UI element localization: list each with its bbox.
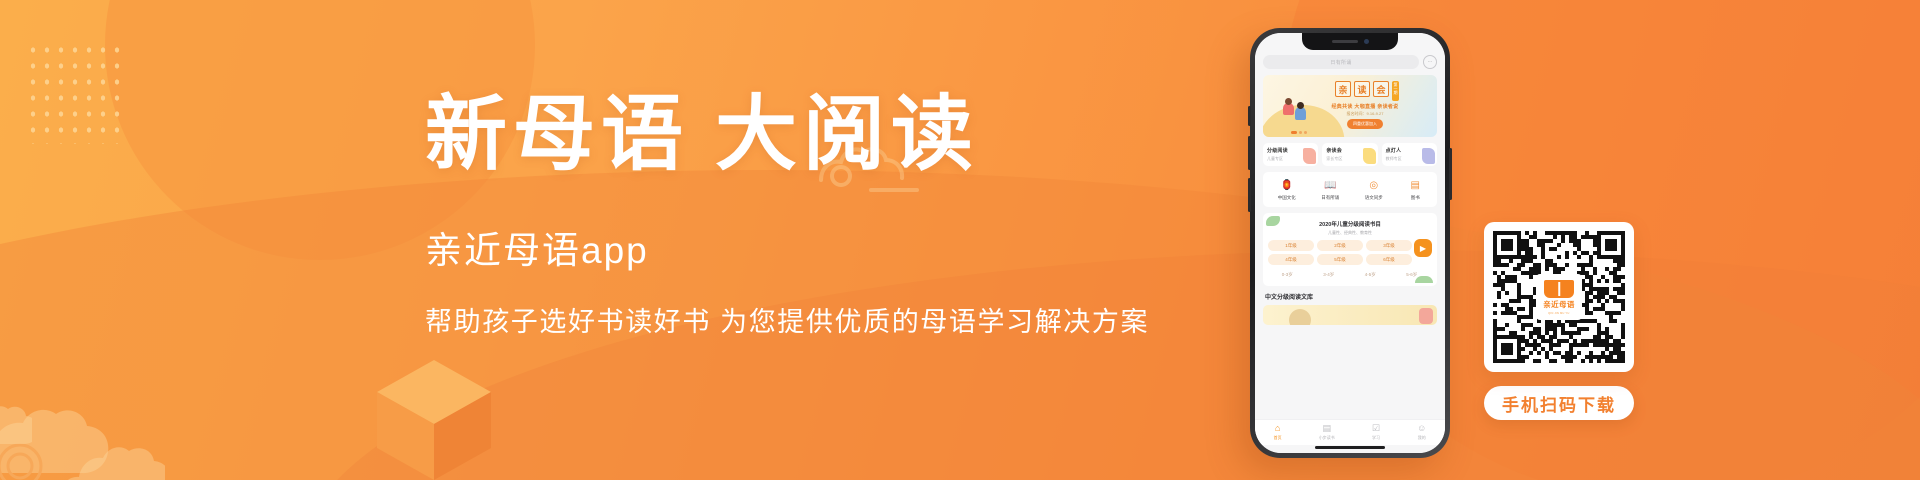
phone-mute-switch	[1248, 106, 1251, 126]
qr-logo-name: 亲近母语	[1543, 299, 1575, 310]
quick-icon-daily-recite[interactable]: 📖 日有所诵	[1321, 178, 1339, 201]
home-indicator	[1315, 446, 1385, 449]
hero-child-illustration	[1283, 103, 1294, 115]
hero-child-illustration	[1295, 107, 1306, 120]
circle-arrow-icon: ◎	[1367, 178, 1381, 192]
cloud-icon	[0, 398, 32, 458]
app-hero-banner[interactable]: 亲 读 会 第一期 经典共读 大咖直播 亲读者说 报名时间：9.16-9.27 …	[1263, 75, 1437, 137]
grade-pill-group: 1年级 2年级 3年级 4年级 5年级 6年级	[1268, 240, 1432, 265]
library-card[interactable]	[1263, 305, 1437, 325]
tab-label: 我的	[1418, 435, 1426, 441]
hero-title-char: 会	[1373, 81, 1389, 97]
decor-cube	[375, 358, 493, 480]
hero-title-char: 亲	[1335, 81, 1351, 97]
hero-title-char: 读	[1354, 81, 1370, 97]
quick-icon-syllabus-sync[interactable]: ◎ 语文同步	[1365, 178, 1383, 201]
qr-center-logo: 亲近母语 QIN JIN MU YU	[1536, 274, 1582, 320]
quick-icon-label: 中国文化	[1278, 195, 1296, 201]
video-play-icon[interactable]: ▶	[1414, 239, 1432, 257]
library-section-title: 中文分级阅读文库	[1265, 292, 1435, 301]
cloud-icon	[0, 394, 132, 480]
quick-icon-chinese-culture[interactable]: 🏮 中国文化	[1278, 178, 1296, 201]
promo-banner: 新母语大阅读 亲近母语app 帮助孩子选好书读好书 为您提供优质的母语学习解决方…	[0, 0, 1920, 480]
app-screen: 日有所诵 ··· 亲 读 会 第一期 经典共读 大咖直播 亲读者说 报名时	[1255, 33, 1445, 453]
app-search-row: 日有所诵 ···	[1263, 55, 1437, 69]
bookmark-icon	[1363, 148, 1376, 164]
hero-title-boxes: 亲 读 会 第一期	[1335, 81, 1399, 101]
tab-stepwise-reading[interactable]: ▤ 小步读书	[1319, 424, 1335, 441]
phone-volume-up-button	[1248, 136, 1251, 170]
library-card-shape	[1289, 309, 1311, 325]
grade-pill[interactable]: 2年级	[1317, 240, 1363, 251]
library-card-shape	[1419, 308, 1433, 324]
lantern-icon: 🏮	[1280, 178, 1294, 192]
quick-icon-books[interactable]: ▤ 图书	[1408, 178, 1422, 201]
qr-download-block: 亲近母语 QIN JIN MU YU 手机扫码下载	[1484, 222, 1634, 420]
cloud-icon	[60, 436, 165, 480]
grade-pill[interactable]: 4年级	[1268, 254, 1314, 265]
front-camera-icon	[1364, 39, 1369, 44]
search-input[interactable]: 日有所诵	[1263, 55, 1419, 69]
hero-cta-button[interactable]: 四重优惠加入	[1347, 119, 1383, 129]
tab-label: 小步读书	[1319, 435, 1335, 441]
phone-notch	[1302, 33, 1398, 50]
checklist-icon: ☑	[1372, 424, 1380, 433]
qr-logo-en: QIN JIN MU YU	[1548, 311, 1569, 315]
hero-vertical-tag: 第一期	[1392, 81, 1399, 101]
grade-pill[interactable]: 6年级	[1366, 254, 1412, 265]
hero-subtitle: 经典共读 大咖直播 亲读者说	[1332, 103, 1399, 110]
page-title: 新母语大阅读	[425, 92, 1285, 178]
home-icon: ⌂	[1275, 424, 1280, 433]
leaf-icon	[1415, 276, 1433, 283]
age-pill-group: 0-3岁 3-4岁 4-5岁 5-6岁	[1268, 269, 1432, 280]
qr-card: 亲近母语 QIN JIN MU YU	[1484, 222, 1634, 372]
bookmark-icon	[1422, 148, 1435, 164]
bookmark-icon	[1303, 148, 1316, 164]
banner-tagline: 帮助孩子选好书读好书 为您提供优质的母语学习解决方案	[425, 300, 1285, 339]
hero-carousel-dots[interactable]	[1291, 131, 1307, 134]
age-pill[interactable]: 0-3岁	[1268, 269, 1307, 280]
phone-volume-down-button	[1248, 178, 1251, 212]
entry-card-teacher[interactable]: 点灯人 教师专区	[1382, 143, 1437, 166]
headline-part-1: 新母语	[425, 89, 689, 180]
decor-dot-grid	[26, 42, 122, 144]
age-pill[interactable]: 4-5岁	[1351, 269, 1390, 280]
open-book-icon	[1544, 280, 1574, 298]
tab-home[interactable]: ⌂ 首页	[1274, 424, 1282, 441]
booklist-subtitle: 儿童性、经典性、教育性	[1268, 230, 1432, 236]
grade-pill[interactable]: 3年级	[1366, 240, 1412, 251]
phone-screen-frame: 日有所诵 ··· 亲 读 会 第一期 经典共读 大咖直播 亲读者说 报名时	[1255, 33, 1445, 453]
grade-pill[interactable]: 1年级	[1268, 240, 1314, 251]
phone-mockup: 日有所诵 ··· 亲 读 会 第一期 经典共读 大咖直播 亲读者说 报名时	[1250, 28, 1450, 458]
entry-card-graded-reading[interactable]: 分级阅读 儿童专区	[1263, 143, 1318, 166]
earpiece-speaker	[1332, 40, 1358, 43]
tab-study[interactable]: ☑ 学习	[1372, 424, 1380, 441]
download-button[interactable]: 手机扫码下载	[1484, 386, 1634, 420]
phone-power-button	[1449, 148, 1452, 200]
hero-date: 报名时间：9.16-9.27	[1347, 111, 1384, 117]
quick-icon-label: 图书	[1411, 195, 1420, 201]
list-icon: ▤	[1408, 178, 1422, 192]
app-tab-bar: ⌂ 首页 ▤ 小步读书 ☑ 学习 ☺ 我的	[1255, 419, 1445, 445]
tab-label: 首页	[1274, 435, 1282, 441]
user-icon: ☺	[1417, 424, 1426, 433]
entry-card-parent-club[interactable]: 亲读会 家长专区	[1322, 143, 1377, 166]
age-pill[interactable]: 3-4岁	[1310, 269, 1349, 280]
app-quick-icons: 🏮 中国文化 📖 日有所诵 ◎ 语文同步 ▤ 图书	[1263, 172, 1437, 207]
quick-icon-label: 语文同步	[1365, 195, 1383, 201]
banner-copy: 新母语大阅读 亲近母语app 帮助孩子选好书读好书 为您提供优质的母语学习解决方…	[425, 92, 1285, 339]
booklist-title: 2020年儿童分级阅读书目	[1268, 220, 1432, 228]
grade-pill[interactable]: 5年级	[1317, 254, 1363, 265]
qr-code-image: 亲近母语 QIN JIN MU YU	[1493, 231, 1625, 363]
tab-label: 学习	[1372, 435, 1380, 441]
quick-icon-label: 日有所诵	[1321, 195, 1339, 201]
book-list-icon: ▤	[1322, 424, 1331, 433]
app-entry-cards: 分级阅读 儿童专区 亲读会 家长专区 点灯人 教师专区	[1263, 143, 1437, 166]
app-name-subtitle: 亲近母语app	[425, 220, 1285, 274]
tab-mine[interactable]: ☺ 我的	[1417, 424, 1426, 441]
headline-part-2: 大阅读	[715, 89, 979, 180]
app-booklist-card: 2020年儿童分级阅读书目 儿童性、经典性、教育性 1年级 2年级 3年级 4年…	[1263, 213, 1437, 286]
message-icon[interactable]: ···	[1423, 55, 1437, 69]
book-icon: 📖	[1323, 178, 1337, 192]
